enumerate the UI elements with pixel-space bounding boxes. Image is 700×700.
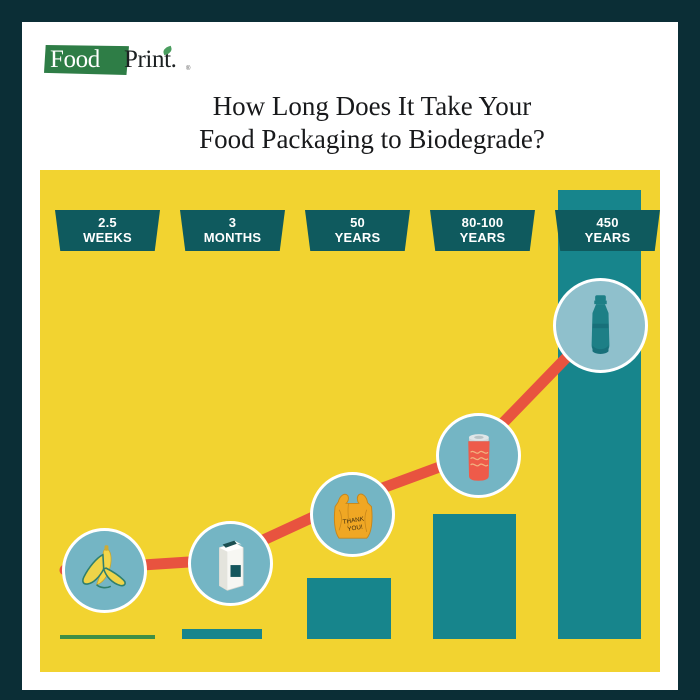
bar-plastic-bottle bbox=[558, 190, 641, 639]
banner-value-1: 2.5 bbox=[55, 215, 160, 230]
badge-banana-peel[interactable] bbox=[62, 528, 147, 613]
bar-milk-carton bbox=[182, 629, 262, 639]
banner-unit-3: YEARS bbox=[305, 230, 410, 245]
page-title-line-1: How Long Does It Take Your bbox=[44, 90, 700, 123]
banner-unit-5: YEARS bbox=[555, 230, 660, 245]
banana-peel-icon bbox=[65, 531, 144, 610]
bar-aluminum-can bbox=[433, 514, 516, 639]
trademark-symbol: ® bbox=[186, 66, 190, 72]
banner-plastic-bag: 50 YEARS bbox=[305, 210, 410, 251]
banner-value-5: 450 bbox=[555, 215, 660, 230]
soda-can-icon bbox=[439, 416, 518, 495]
banner-unit-4: YEARS bbox=[430, 230, 535, 245]
infographic-root: Food Print. ® How Long Does It Take Your… bbox=[0, 0, 700, 700]
banner-banana-peel: 2.5 WEEKS bbox=[55, 210, 160, 251]
plastic-bag-icon: THANK YOU! bbox=[313, 475, 392, 554]
banner-milk-carton: 3 MONTHS bbox=[180, 210, 285, 251]
banner-value-2: 3 bbox=[180, 215, 285, 230]
badge-plastic-bottle[interactable] bbox=[553, 278, 648, 373]
banner-unit-2: MONTHS bbox=[180, 230, 285, 245]
header: Food Print. ® How Long Does It Take Your… bbox=[22, 22, 678, 170]
badge-milk-carton[interactable] bbox=[188, 521, 273, 606]
bar-banana-peel bbox=[60, 635, 155, 639]
chart-panel: THANK YOU! bbox=[40, 170, 660, 672]
plastic-bottle-icon bbox=[556, 281, 645, 370]
banner-value-3: 50 bbox=[305, 215, 410, 230]
badge-aluminum-can[interactable] bbox=[436, 413, 521, 498]
foodprint-logo[interactable]: Food Print. ® bbox=[44, 42, 189, 78]
logo-food-text: Food bbox=[50, 46, 100, 73]
banner-aluminum-can: 80-100 YEARS bbox=[430, 210, 535, 251]
banner-value-4: 80-100 bbox=[430, 215, 535, 230]
page-title-line-2: Food Packaging to Biodegrade? bbox=[44, 123, 700, 156]
page-title: How Long Does It Take Your Food Packagin… bbox=[44, 90, 700, 156]
badge-plastic-bag[interactable]: THANK YOU! bbox=[310, 472, 395, 557]
bar-plastic-bag bbox=[307, 578, 391, 639]
banner-unit-1: WEEKS bbox=[55, 230, 160, 245]
milk-carton-icon bbox=[191, 524, 270, 603]
banner-plastic-bottle: 450 YEARS bbox=[555, 210, 660, 251]
